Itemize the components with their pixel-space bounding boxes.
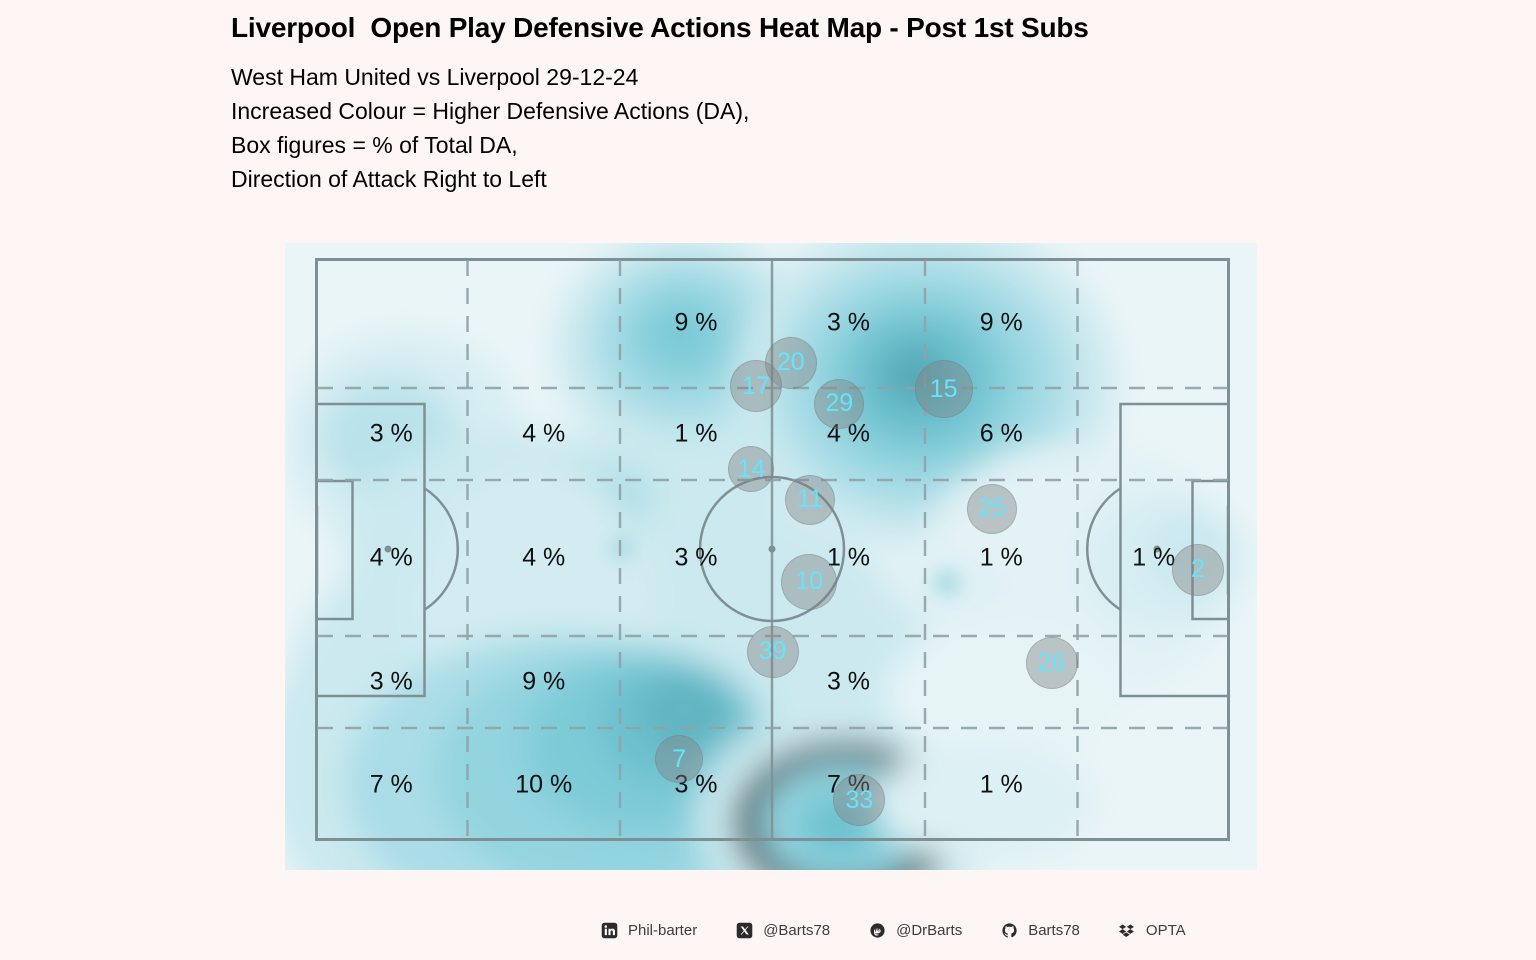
footer-item[interactable]: OPTA [1118, 921, 1224, 939]
player-marker[interactable]: 11 [785, 475, 835, 525]
player-marker[interactable]: 17 [730, 360, 782, 412]
page-subtitle: West Ham United vs Liverpool 29-12-24 In… [231, 60, 749, 196]
heatmap-page: Liverpool Open Play Defensive Actions He… [0, 0, 1536, 960]
pitch-panel: 9 %3 %9 %3 %4 %1 %4 %6 %4 %4 %3 %1 %1 %1… [285, 243, 1257, 870]
footer-item[interactable]: @Barts78 [735, 921, 868, 939]
footer-handle: Phil-barter [628, 922, 697, 939]
dropbox-icon [1118, 921, 1136, 939]
player-marker[interactable]: 14 [728, 446, 774, 492]
player-marker[interactable]: 29 [814, 379, 864, 429]
mastodon-icon [868, 921, 886, 939]
footer-handle: Barts78 [1028, 922, 1080, 939]
footer-handle: @DrBarts [896, 922, 962, 939]
github-icon [1000, 921, 1018, 939]
player-marker[interactable]: 10 [781, 554, 837, 610]
footer-handle: OPTA [1146, 922, 1186, 939]
player-marker[interactable]: 26 [1026, 637, 1078, 689]
player-marker[interactable]: 39 [747, 626, 799, 678]
footer-item[interactable]: Phil-barter [600, 921, 735, 939]
footer-attribution: Phil-barter@Barts78@DrBartsBarts78OPTA [600, 921, 1224, 939]
footer-item[interactable]: @DrBarts [868, 921, 1000, 939]
linkedin-icon [600, 921, 618, 939]
footer-item[interactable]: Barts78 [1000, 921, 1118, 939]
x-twitter-icon [735, 921, 753, 939]
page-title: Liverpool Open Play Defensive Actions He… [231, 12, 1089, 44]
player-marker[interactable]: 25 [967, 484, 1017, 534]
player-marker[interactable]: 15 [915, 360, 973, 418]
player-marker[interactable]: 33 [833, 774, 885, 826]
footer-handle: @Barts78 [763, 922, 830, 939]
player-marker[interactable]: 7 [655, 735, 703, 783]
player-marker[interactable]: 2 [1172, 544, 1224, 596]
